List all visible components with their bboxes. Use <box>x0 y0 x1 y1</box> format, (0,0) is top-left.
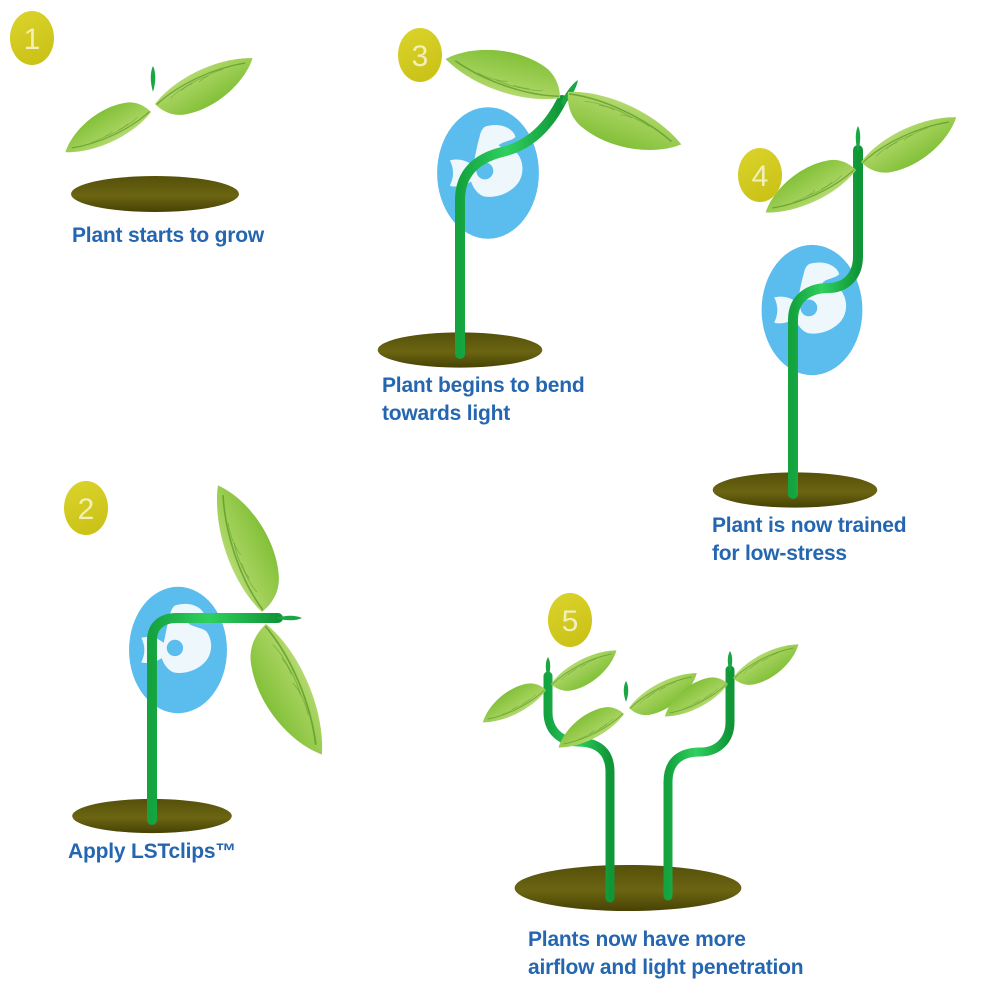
leaf-icon <box>149 56 261 121</box>
step-badge-4[interactable]: 4 <box>738 148 782 202</box>
step-badge-1[interactable]: 1 <box>10 11 54 65</box>
caption-line: Plant is now trained <box>712 512 906 540</box>
lst-clip-icon <box>437 107 539 238</box>
leaf-icon <box>855 115 964 178</box>
infographic-canvas: 1 2 3 4 5 Plant starts to grow Apply LST… <box>0 0 1000 1000</box>
lst-clip-icon <box>762 245 863 375</box>
lst-clip-icon <box>129 587 227 713</box>
leaf-icon <box>546 649 623 695</box>
step-badge-3[interactable]: 3 <box>398 28 442 82</box>
leaf-icon <box>476 679 550 724</box>
step-badge-label: 2 <box>78 493 95 526</box>
step-5-caption: Plants now have more airflow and light p… <box>528 926 803 981</box>
step-1-illustration <box>58 56 261 212</box>
step-badge-label: 5 <box>562 605 579 638</box>
leaf-icon <box>245 618 326 764</box>
stem-icon <box>624 681 629 900</box>
step-1-caption: Plant starts to grow <box>72 222 264 250</box>
leaf-icon <box>58 98 156 155</box>
step-badge-label: 3 <box>412 40 429 73</box>
caption-line: Plants now have more <box>528 926 803 954</box>
caption-line: for low-stress <box>712 540 906 568</box>
step-2-caption: Apply LSTclips™ <box>68 838 236 866</box>
step-badge-2[interactable]: 2 <box>64 481 108 535</box>
step-badge-label: 4 <box>752 160 769 193</box>
stem-icon <box>151 66 156 196</box>
step-5-illustration <box>476 643 805 911</box>
stem-icon <box>546 657 610 898</box>
step-4-caption: Plant is now trained for low-stress <box>712 512 906 567</box>
step-badge-label: 1 <box>24 23 41 56</box>
caption-line: Plant begins to bend <box>382 372 585 400</box>
caption-line: towards light <box>382 400 585 428</box>
leaf-icon <box>728 643 805 689</box>
leaf-icon <box>444 20 570 124</box>
step-badge-5[interactable]: 5 <box>548 593 592 647</box>
step-3-caption: Plant begins to bend towards light <box>382 372 585 427</box>
step-2-illustration <box>72 480 325 833</box>
caption-line: Apply LSTclips™ <box>68 838 236 866</box>
leaf-icon <box>215 480 283 616</box>
caption-line: Plant starts to grow <box>72 222 264 250</box>
caption-line: airflow and light penetration <box>528 954 803 982</box>
